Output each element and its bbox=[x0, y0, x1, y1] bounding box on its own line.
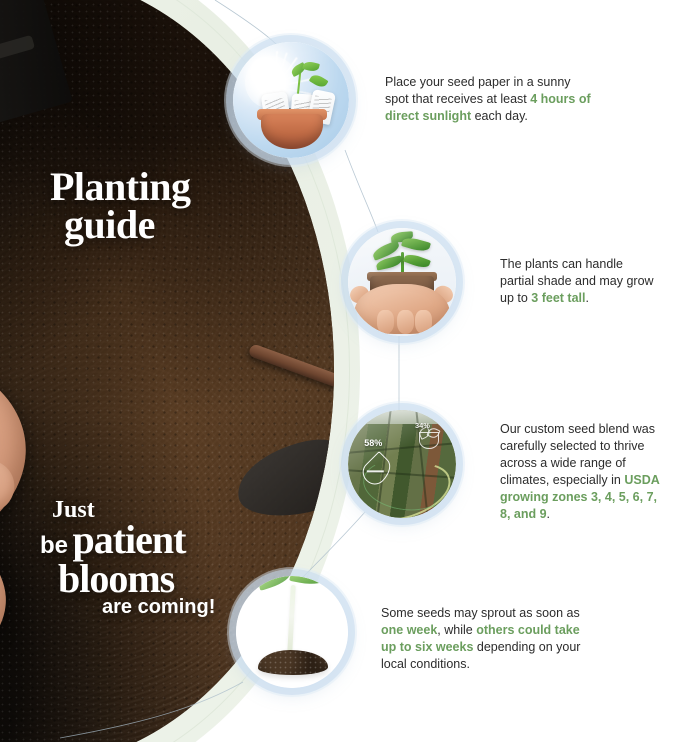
planting-guide-poster: Planting guide Just be patient blooms ar… bbox=[0, 0, 679, 742]
horizon-sky bbox=[348, 410, 456, 424]
tagline-blooms: blooms bbox=[40, 560, 240, 598]
connector-bottom bbox=[60, 682, 243, 738]
connector-3-4 bbox=[300, 512, 365, 580]
step-image-shade-height[interactable] bbox=[348, 228, 456, 336]
step-text-usda-zones: Our custom seed blend was carefully sele… bbox=[500, 421, 670, 523]
finger-a bbox=[377, 310, 394, 334]
step-image-sprout-time[interactable] bbox=[236, 576, 348, 688]
tagline-be-patient: be patient bbox=[40, 520, 240, 560]
step-image-usda-zones[interactable]: 58% 34% bbox=[348, 410, 456, 518]
secondary-percent-label: 34% bbox=[415, 421, 430, 430]
bubble-4-content bbox=[236, 576, 348, 688]
bubble-3-content: 58% 34% bbox=[348, 410, 456, 518]
page-title: Planting guide bbox=[50, 168, 190, 244]
bubble-2-content bbox=[348, 228, 456, 336]
finger-b bbox=[397, 310, 414, 334]
title-line-2: guide bbox=[50, 206, 190, 244]
moisture-percent-label: 58% bbox=[364, 438, 382, 448]
finger-c bbox=[415, 310, 432, 334]
step-text-sprout-time: Some seeds may sprout as soon as one wee… bbox=[381, 605, 586, 673]
step-text-shade-height: The plants can handle partial shade and … bbox=[500, 256, 660, 307]
step-image-sunlight[interactable] bbox=[233, 42, 349, 158]
sprout-icon bbox=[419, 432, 438, 449]
step-text-sunlight: Place your seed paper in a sunny spot th… bbox=[385, 74, 595, 125]
soil-mound bbox=[258, 650, 327, 675]
tagline: Just be patient blooms are coming! bbox=[40, 498, 240, 619]
connector-1-2 bbox=[345, 150, 378, 232]
soil-specks bbox=[258, 650, 327, 675]
bubble-1-content bbox=[233, 42, 349, 158]
